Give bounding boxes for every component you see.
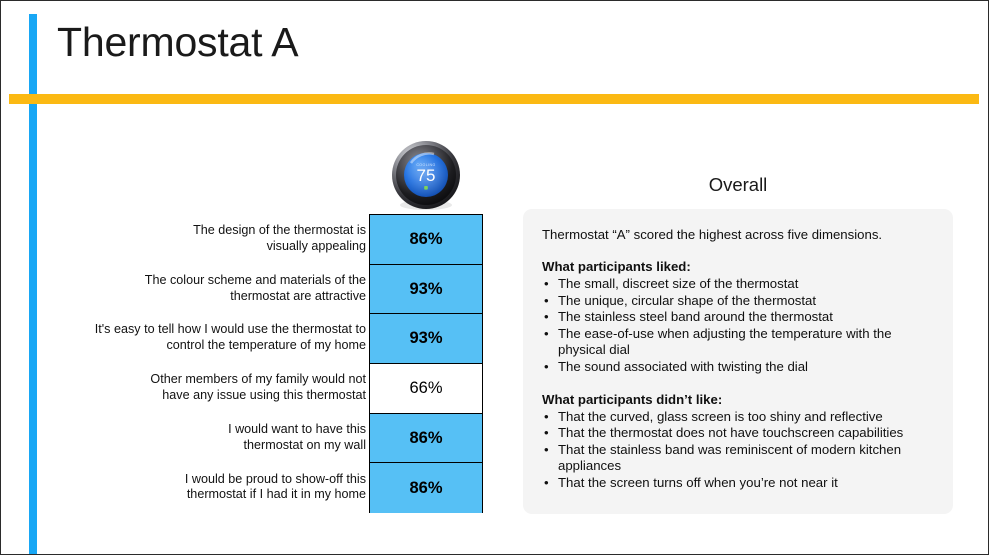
overall-intro-text: Thermostat “A” scored the highest across… xyxy=(542,226,933,243)
percent-cell: 86% xyxy=(370,463,482,513)
statement-line: visually appealing xyxy=(193,239,366,255)
statement-row: Other members of my family would nothave… xyxy=(61,363,366,413)
bullet-item: The stainless steel band around the ther… xyxy=(542,309,933,326)
statement-line: thermostat are attractive xyxy=(145,289,366,305)
statement-label: Other members of my family would nothave… xyxy=(150,372,366,403)
statement-label: The design of the thermostat isvisually … xyxy=(193,223,366,254)
statement-line: I would want to have this xyxy=(228,422,366,438)
bullet-item: That the thermostat does not have touchs… xyxy=(542,425,933,442)
statement-line: control the temperature of my home xyxy=(95,338,366,354)
statement-line: have any issue using this thermostat xyxy=(150,388,366,404)
bullet-item: That the screen turns off when you’re no… xyxy=(542,475,933,492)
statement-line: It's easy to tell how I would use the th… xyxy=(95,322,366,338)
disliked-heading: What participants didn’t like: xyxy=(542,391,933,409)
statement-label: The colour scheme and materials of theth… xyxy=(145,273,366,304)
bullet-item: The small, discreet size of the thermost… xyxy=(542,276,933,293)
statement-line: The design of the thermostat is xyxy=(193,223,366,239)
liked-bullet-list: The small, discreet size of the thermost… xyxy=(542,276,933,376)
slide-canvas: Thermostat A xyxy=(0,0,989,555)
disliked-bullet-list: That the curved, glass screen is too shi… xyxy=(542,409,933,492)
bullet-item: The ease-of-use when adjusting the tempe… xyxy=(542,326,933,359)
statement-line: thermostat on my wall xyxy=(228,438,366,454)
liked-heading: What participants liked: xyxy=(542,258,933,276)
statement-label: I would want to have thisthermostat on m… xyxy=(228,422,366,453)
percent-cell: 66% xyxy=(370,364,482,414)
percent-cell: 86% xyxy=(370,215,482,265)
statement-line: Other members of my family would not xyxy=(150,372,366,388)
thermostat-temperature: 75 xyxy=(417,166,436,185)
statement-label: I would be proud to show-off thisthermos… xyxy=(185,472,366,503)
bullet-item: The sound associated with twisting the d… xyxy=(542,359,933,376)
bullet-item: That the stainless band was reminiscent … xyxy=(542,442,933,475)
nest-thermostat-icon: 75 COOLING xyxy=(389,139,463,213)
percent-cell: 93% xyxy=(370,265,482,315)
percent-score-table: 86%93%93%66%86%86% xyxy=(369,214,483,513)
statement-row: It's easy to tell how I would use the th… xyxy=(61,313,366,363)
percent-cell: 93% xyxy=(370,314,482,364)
svg-text:COOLING: COOLING xyxy=(416,163,435,167)
statement-row: I would be proud to show-off thisthermos… xyxy=(61,462,366,512)
overall-summary-panel: Thermostat “A” scored the highest across… xyxy=(523,209,953,514)
page-title: Thermostat A xyxy=(57,20,298,65)
statement-label: It's easy to tell how I would use the th… xyxy=(95,322,366,353)
statement-line: The colour scheme and materials of the xyxy=(145,273,366,289)
statement-labels: The design of the thermostat isvisually … xyxy=(61,214,366,513)
bullet-item: That the curved, glass screen is too shi… xyxy=(542,409,933,426)
bullet-item: The unique, circular shape of the thermo… xyxy=(542,293,933,310)
percent-cell: 86% xyxy=(370,414,482,464)
statement-row: I would want to have thisthermostat on m… xyxy=(61,413,366,463)
statement-line: thermostat if I had it in my home xyxy=(185,487,366,503)
statement-row: The design of the thermostat isvisually … xyxy=(61,214,366,264)
statement-row: The colour scheme and materials of theth… xyxy=(61,264,366,314)
statement-line: I would be proud to show-off this xyxy=(185,472,366,488)
accent-bar-horizontal xyxy=(9,94,979,104)
overall-heading: Overall xyxy=(523,174,953,196)
